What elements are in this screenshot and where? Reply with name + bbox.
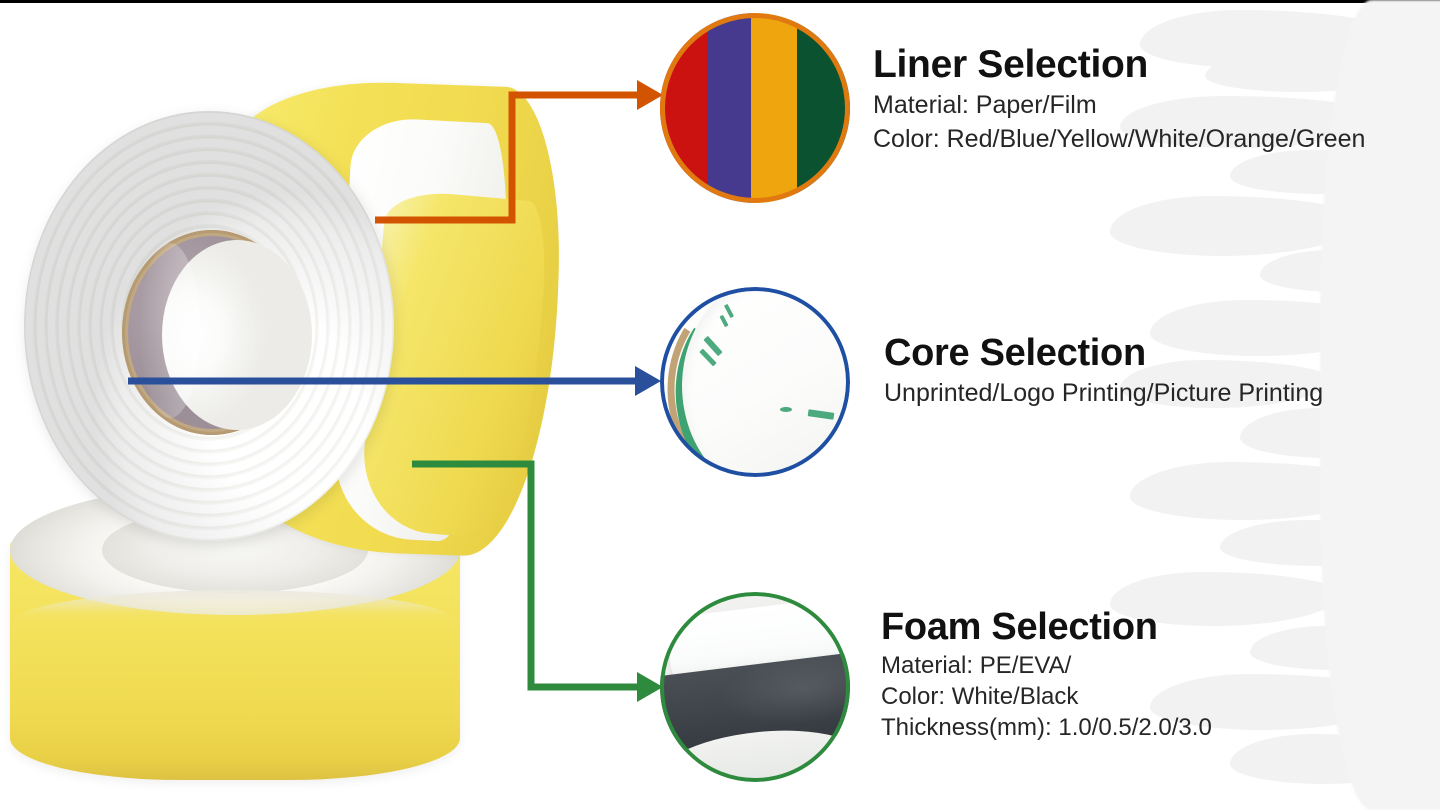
foam-text-block: Foam Selection Material: PE/EVA/ Color: …: [881, 604, 1212, 743]
foam-bubble-ring: [660, 592, 850, 782]
liner-material-line: Material: Paper/Film: [873, 88, 1365, 122]
foam-thickness-line: Thickness(mm): 1.0/0.5/2.0/3.0: [881, 712, 1212, 743]
foam-sample-bubble[interactable]: [660, 592, 850, 782]
upper-roll-core-highlight: [140, 243, 200, 418]
top-divider-bar: [0, 0, 1440, 3]
core-sample-bubble[interactable]: [660, 287, 850, 477]
foam-material-line: Material: PE/EVA/: [881, 650, 1212, 681]
core-bubble-ring: [660, 287, 850, 477]
tape-roll-upper: [12, 65, 552, 565]
liner-title: Liner Selection: [873, 42, 1365, 88]
infographic-canvas: Liner Selection Material: Paper/Film Col…: [0, 0, 1440, 810]
product-photo: [0, 55, 560, 810]
liner-color-line: Color: Red/Blue/Yellow/White/Orange/Gree…: [873, 122, 1365, 156]
core-options-line: Unprinted/Logo Printing/Picture Printing: [884, 376, 1323, 410]
core-text-block: Core Selection Unprinted/Logo Printing/P…: [884, 330, 1323, 410]
liner-text-block: Liner Selection Material: Paper/Film Col…: [873, 42, 1365, 156]
liner-sample-bubble[interactable]: [660, 13, 850, 203]
liner-bubble-ring: [660, 13, 850, 203]
foam-title: Foam Selection: [881, 604, 1212, 650]
core-title: Core Selection: [884, 330, 1323, 376]
foam-color-line: Color: White/Black: [881, 681, 1212, 712]
